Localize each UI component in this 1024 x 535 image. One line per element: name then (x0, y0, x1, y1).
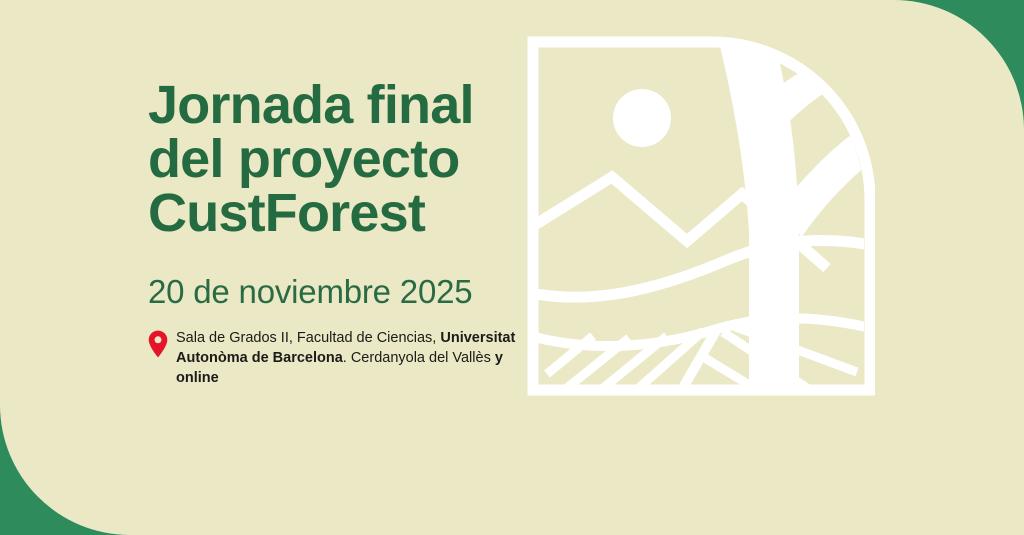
page-title: Jornada final del proyecto CustForest (148, 78, 548, 240)
field-furrows (527, 318, 875, 396)
sun-icon (613, 89, 671, 147)
custforest-logo (527, 36, 875, 396)
venue-line2-bold: Autonòma de Barcelona (176, 350, 343, 366)
venue-line2-normal: . Cerdanyola del Vallès (343, 350, 495, 366)
poster-canvas: Jornada final del proyecto CustForest 20… (0, 0, 1024, 535)
location-pin-icon (148, 330, 168, 358)
venue-line1-bold: Universitat (440, 330, 515, 346)
text-block: Jornada final del proyecto CustForest 20… (148, 78, 548, 388)
event-date: 20 de noviembre 2025 (148, 240, 548, 310)
venue-text: Sala de Grados II, Facultad de Ciencias,… (176, 328, 536, 388)
venue-line1-normal: Sala de Grados II, Facultad de Ciencias, (176, 330, 440, 346)
venue-row: Sala de Grados II, Facultad de Ciencias,… (148, 310, 548, 388)
